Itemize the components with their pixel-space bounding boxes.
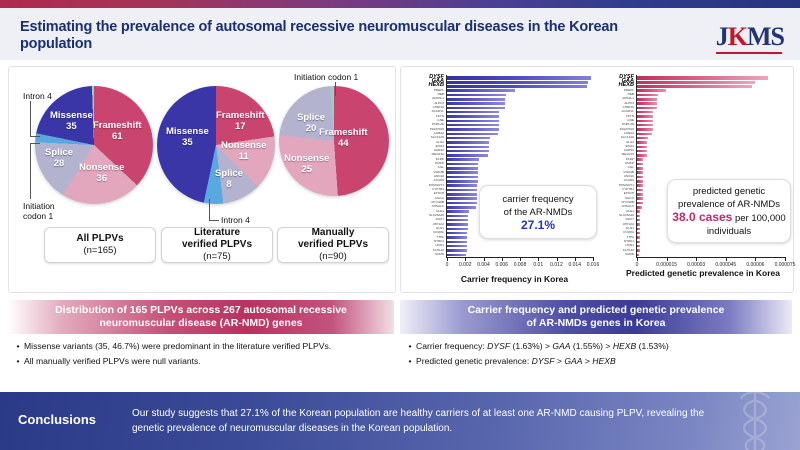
bar-acad9 bbox=[447, 180, 478, 183]
logo-ms: MS bbox=[747, 22, 784, 51]
x-tick bbox=[696, 258, 697, 261]
br2-b: > bbox=[582, 356, 592, 366]
bar-cyp7b1 bbox=[447, 189, 477, 192]
bar-acadvl bbox=[637, 111, 653, 114]
bullet-right-1: • Carrier frequency: DYSF (1.63%) > GAA … bbox=[404, 340, 794, 353]
bar-fkrp bbox=[637, 158, 643, 161]
pie3-label-nonsense: Nonsense 25 bbox=[284, 153, 329, 175]
bar-myo18b bbox=[637, 202, 643, 205]
bar-alg2 bbox=[637, 141, 647, 144]
x-tick bbox=[557, 258, 558, 261]
pie3-splice-value: 20 bbox=[306, 123, 317, 134]
br2-dysf: DYSF bbox=[532, 356, 555, 366]
pie1-init-line1: Initiation bbox=[23, 201, 55, 211]
bullet-left-1-text: Missense variants (35, 46.7%) were predo… bbox=[24, 340, 331, 353]
jkms-logo: JKMS bbox=[716, 22, 784, 52]
bar-alpk3 bbox=[447, 102, 505, 105]
pie1-leader-intron-v bbox=[30, 101, 31, 137]
predicted-prevalence-callout: predicted genetic prevalence of AR-NMDs … bbox=[667, 179, 791, 243]
bar-aars2 bbox=[447, 150, 489, 153]
br1-hexb: HEXB bbox=[613, 341, 636, 351]
catbox3-title-1: Manually bbox=[312, 227, 355, 239]
bar-vwa3b bbox=[447, 171, 478, 174]
bar-coq8a bbox=[637, 232, 640, 235]
bar-pmkp bbox=[637, 163, 643, 166]
bar-ttpa bbox=[447, 236, 467, 239]
carrier-callout-line2: of the AR-NMDs bbox=[504, 206, 573, 219]
bar-atp1a2 bbox=[637, 223, 640, 226]
bar-chrng bbox=[637, 107, 657, 110]
bar-gle1 bbox=[447, 210, 469, 213]
x-tick bbox=[520, 258, 521, 261]
prevalence-callout-value: 38.0 cases bbox=[672, 210, 732, 224]
bar-alpk3 bbox=[637, 102, 657, 105]
pie2-splice-value: 8 bbox=[226, 179, 231, 190]
bar-eno3 bbox=[637, 146, 647, 149]
br1-prefix: Carrier frequency: bbox=[416, 341, 487, 351]
bar-adssl1 bbox=[637, 98, 657, 101]
bar-slc12a6 bbox=[447, 137, 490, 140]
banner-carrier-prevalence: Carrier frequency and predicted genetic … bbox=[400, 300, 792, 334]
pie1-label-nonsense: Nonsense 36 bbox=[79, 162, 124, 184]
bullet-dot-icon: • bbox=[404, 340, 416, 353]
br1-a: (1.63%) > bbox=[510, 341, 552, 351]
pie3-frameshift-value: 44 bbox=[338, 138, 349, 149]
bar-fktn bbox=[447, 115, 499, 118]
pie-chart-all-plpvs bbox=[35, 86, 153, 204]
carrier-callout-line1: carrier frequency bbox=[502, 193, 573, 206]
bar-dysf bbox=[637, 76, 768, 80]
bar-chrng bbox=[447, 107, 505, 110]
catbox2-title-1: Literature bbox=[194, 227, 240, 239]
prevalence-callout-tail: per 100,000 bbox=[732, 213, 785, 224]
x-tick bbox=[538, 258, 539, 261]
banner-distribution: Distribution of 165 PLPVs across 267 aut… bbox=[8, 300, 394, 334]
pie2-label-splice: Splice 8 bbox=[215, 168, 243, 190]
pie1-nonsense-text: Nonsense bbox=[79, 162, 124, 173]
bar-dok7 bbox=[637, 219, 640, 222]
bar-hexb bbox=[447, 85, 587, 89]
x-tick bbox=[637, 258, 638, 261]
logo-k: K bbox=[728, 22, 747, 51]
prevalence-callout-line4: individuals bbox=[707, 225, 751, 238]
catbox3-title-2: verified PLPVs bbox=[298, 239, 368, 251]
conclusions-text: Our study suggests that 27.1% of the Kor… bbox=[132, 406, 732, 436]
bar-neb bbox=[447, 94, 506, 97]
pie1-label-frameshift: Frameshift 61 bbox=[93, 120, 142, 142]
bar-fktn bbox=[637, 115, 653, 118]
bullet-dot-icon: • bbox=[12, 340, 24, 353]
bar-plekhg5 bbox=[447, 128, 499, 131]
bar-sgcg bbox=[447, 197, 477, 200]
bar-klhl40 bbox=[637, 249, 640, 252]
bar-prepl bbox=[637, 89, 666, 92]
bar-gln1 bbox=[447, 228, 468, 231]
bar-gln1 bbox=[637, 228, 640, 231]
pie3-anno-init: Initiation codon 1 bbox=[294, 72, 358, 82]
bar-vwa3b bbox=[637, 171, 643, 174]
gene-label-slc12a6: SLC12A6 bbox=[407, 136, 444, 139]
pie1-init-line2: codon 1 bbox=[23, 211, 53, 221]
x-tick bbox=[755, 258, 756, 261]
bar-sord bbox=[637, 254, 639, 257]
bar-charts-panel: DYSFGAAHEXBPREPLNEBADSSL1ALPK3CHRNGACADV… bbox=[400, 66, 794, 293]
bar-gaa bbox=[447, 81, 588, 85]
banner-right-line1: Carrier frequency and predicted genetic … bbox=[468, 304, 725, 316]
catbox2-sub: (n=75) bbox=[203, 251, 231, 263]
pie2-label-nonsense: Nonsense 11 bbox=[221, 140, 266, 162]
bar-acadvl bbox=[447, 111, 499, 114]
bar-ntrk1 bbox=[637, 241, 640, 244]
conclusions-bar: Conclusions Our study suggests that 27.1… bbox=[0, 392, 800, 450]
bar-sgcg bbox=[637, 197, 643, 200]
br1-gaa: GAA bbox=[552, 341, 570, 351]
bar-agl bbox=[637, 167, 643, 170]
br2-prefix: Predicted genetic prevalence: bbox=[416, 356, 532, 366]
bar-dysf bbox=[447, 76, 591, 80]
bar-lama2 bbox=[447, 133, 498, 136]
br2-gaa: GAA bbox=[564, 356, 582, 366]
bullet-dot-icon: • bbox=[404, 355, 416, 368]
bar-pnpla8 bbox=[447, 124, 499, 127]
pie2-splice-text: Splice bbox=[215, 168, 243, 179]
pie2-anno-intron: Intron 4 bbox=[221, 215, 250, 225]
bar-megf10 bbox=[637, 154, 647, 157]
bar-klhl40 bbox=[447, 249, 467, 252]
bullets-right: • Carrier frequency: DYSF (1.63%) > GAA … bbox=[404, 340, 794, 370]
bar-dok7 bbox=[447, 219, 468, 222]
bullet-dot-icon: • bbox=[12, 355, 24, 368]
bar-slc25a20 bbox=[637, 215, 640, 218]
bar-gaa bbox=[637, 81, 755, 85]
x-tick bbox=[726, 258, 727, 261]
bar-neb bbox=[637, 94, 658, 97]
header-bar: Estimating the prevalence of autosomal r… bbox=[0, 8, 800, 60]
gene-label-slc12a6: SLC12A6 bbox=[597, 136, 634, 139]
bar-pomgnt1 bbox=[447, 184, 477, 187]
bar-pnpla8 bbox=[637, 124, 653, 127]
pie2-missense-value: 35 bbox=[182, 137, 193, 148]
carrier-frequency-callout: carrier frequency of the AR-NMDs 27.1% bbox=[479, 185, 597, 239]
category-box-manually-verified[interactable]: Manually verified PLPVs (n=90) bbox=[277, 227, 389, 263]
bar-ano10 bbox=[447, 176, 478, 179]
bar-sord bbox=[447, 254, 466, 257]
bar-gne bbox=[447, 120, 499, 123]
x-tick bbox=[502, 258, 503, 261]
gene-label-sord: SORD bbox=[407, 253, 444, 256]
caduceus-icon bbox=[724, 392, 786, 450]
br1-dysf: DYSF bbox=[487, 341, 510, 351]
bar-prepl bbox=[447, 89, 515, 92]
bar-alg2 bbox=[447, 141, 489, 144]
carrier-chart-x-title: Carrier frequency in Korea bbox=[427, 274, 602, 284]
pie1-anno-init: Initiation codon 1 bbox=[23, 201, 55, 221]
bar-ahsa1c bbox=[637, 206, 642, 209]
category-box-literature-verified[interactable]: Literature verified PLPVs (n=75) bbox=[161, 227, 273, 263]
bar-lpin1 bbox=[637, 245, 640, 248]
bar-myo18b bbox=[447, 202, 477, 205]
bar-pmkp bbox=[447, 163, 478, 166]
carrier-callout-value: 27.1% bbox=[521, 219, 555, 232]
pie2-leader-intron-v bbox=[209, 199, 210, 221]
pie1-missense-value: 35 bbox=[66, 121, 77, 132]
bar-slc12a6 bbox=[637, 137, 648, 140]
bar-cyp7b1 bbox=[637, 189, 643, 192]
pie1-missense-text: Missense bbox=[50, 110, 93, 121]
pie2-missense-text: Missense bbox=[166, 126, 209, 137]
conclusions-label: Conclusions bbox=[18, 412, 96, 427]
bullets-left: • Missense variants (35, 46.7%) were pre… bbox=[12, 340, 394, 370]
x-tick bbox=[465, 258, 466, 261]
bar-hexb bbox=[637, 85, 752, 89]
bullet-left-1: • Missense variants (35, 46.7%) were pre… bbox=[12, 340, 394, 353]
pie3-nonsense-text: Nonsense bbox=[284, 153, 329, 164]
pie1-leader-init-h bbox=[30, 143, 40, 144]
pie2-frameshift-text: Frameshift bbox=[216, 110, 265, 121]
gene-label-sord: SORD bbox=[597, 253, 634, 256]
bar-eno3 bbox=[447, 146, 489, 149]
page-title: Estimating the prevalence of autosomal r… bbox=[20, 19, 660, 53]
top-accent-strip bbox=[0, 0, 800, 8]
br2-hexb: HEXB bbox=[592, 356, 615, 366]
pie1-nonsense-value: 36 bbox=[96, 173, 107, 184]
x-tick bbox=[447, 258, 448, 261]
bar-etfdh bbox=[447, 193, 477, 196]
pie3-label-frameshift: Frameshift 44 bbox=[319, 127, 368, 149]
br1-b: (1.55%) > bbox=[571, 341, 613, 351]
bar-ano10 bbox=[637, 176, 643, 179]
pie2-frameshift-value: 17 bbox=[235, 121, 246, 132]
bar-ntrk1 bbox=[447, 241, 467, 244]
pie3-nonsense-value: 25 bbox=[301, 164, 312, 175]
br2-a: > bbox=[555, 356, 565, 366]
bar-plekhg5 bbox=[637, 128, 653, 131]
pie1-label-splice: Splice 28 bbox=[45, 147, 73, 169]
bullet-left-2-text: All manually verified PLPVs were null va… bbox=[24, 355, 201, 368]
carrier-frequency-chart: DYSFGAAHEXBPREPLNEBADSSL1ALPK3CHRNGACADV… bbox=[407, 71, 597, 289]
prevalence-chart-x-axis bbox=[636, 257, 786, 258]
banner-left-line2: neuromuscular disease (AR-NMD) genes bbox=[99, 317, 302, 329]
bullet-right-2-text: Predicted genetic prevalence: DYSF > GAA… bbox=[416, 355, 616, 368]
x-tick bbox=[575, 258, 576, 261]
bar-gle1 bbox=[637, 210, 640, 213]
pie1-leader-init-v bbox=[30, 143, 31, 199]
gene-label-lpin1: LPIN1 bbox=[407, 244, 444, 247]
bar-gne bbox=[637, 120, 653, 123]
catbox3-sub: (n=90) bbox=[319, 251, 347, 263]
prevalence-chart-x-title: Predicted genetic prevalence in Korea bbox=[619, 268, 787, 278]
bar-agl bbox=[447, 167, 478, 170]
bar-adssl1 bbox=[447, 98, 505, 101]
bar-fkrp bbox=[447, 158, 479, 161]
catbox1-title: All PLPVs bbox=[76, 233, 123, 245]
bullet-right-2: • Predicted genetic prevalence: DYSF > G… bbox=[404, 355, 794, 368]
pie1-anno-intron: Intron 4 bbox=[23, 91, 52, 101]
bar-megf10 bbox=[447, 154, 488, 157]
pie1-frameshift-text: Frameshift bbox=[93, 120, 142, 131]
x-tick bbox=[785, 258, 786, 261]
bar-slc25a20 bbox=[447, 215, 468, 218]
bar-etfdh bbox=[637, 193, 643, 196]
banner-right-line2: of AR-NMDs genes in Korea bbox=[526, 317, 665, 329]
bar-acad9 bbox=[637, 180, 643, 183]
bullet-left-2: • All manually verified PLPVs were null … bbox=[12, 355, 394, 368]
pie-panel: Frameshift 61 Nonsense 36 Splice 28 Miss… bbox=[8, 66, 396, 293]
bullet-right-1-text: Carrier frequency: DYSF (1.63%) > GAA (1… bbox=[416, 340, 669, 353]
br1-c: (1.53%) bbox=[636, 341, 668, 351]
x-tick bbox=[484, 258, 485, 261]
bar-atp1a2 bbox=[447, 223, 468, 226]
bar-lpin1 bbox=[447, 245, 467, 248]
catbox1-sub: (n=165) bbox=[83, 245, 116, 257]
catbox2-title-2: verified PLPVs bbox=[182, 239, 252, 251]
pie2-leader-intron-h bbox=[209, 220, 219, 221]
pie3-leader-init bbox=[335, 82, 336, 96]
pie3-splice-text: Splice bbox=[297, 112, 325, 123]
pie1-splice-text: Splice bbox=[45, 147, 73, 158]
prevalence-callout-line1: predicted genetic bbox=[693, 185, 765, 198]
bar-pomgnt1 bbox=[637, 184, 643, 187]
gene-label-lpin1: LPIN1 bbox=[597, 244, 634, 247]
x-tick bbox=[593, 258, 594, 261]
x-tick bbox=[667, 258, 668, 261]
prevalence-callout-line3: 38.0 cases per 100,000 bbox=[672, 211, 785, 225]
pie2-label-frameshift: Frameshift 17 bbox=[216, 110, 265, 132]
logo-j: J bbox=[716, 22, 728, 51]
bar-ahsa1c bbox=[447, 206, 476, 209]
pie2-nonsense-value: 11 bbox=[239, 151, 249, 162]
bar-aars2 bbox=[637, 150, 647, 153]
pie3-label-splice: Splice 20 bbox=[297, 112, 325, 134]
pie3-frameshift-text: Frameshift bbox=[319, 127, 368, 138]
pie1-frameshift-value: 61 bbox=[112, 131, 123, 142]
bar-lama2 bbox=[637, 133, 652, 136]
logo-underline bbox=[716, 52, 782, 54]
category-box-all-plpvs[interactable]: All PLPVs (n=165) bbox=[44, 227, 156, 263]
banner-left-line1: Distribution of 165 PLPVs across 267 aut… bbox=[55, 304, 347, 316]
pie2-label-missense: Missense 35 bbox=[166, 126, 209, 148]
bar-coq8a bbox=[447, 232, 467, 235]
pie1-leader-intron-h bbox=[30, 136, 40, 137]
pie1-splice-value: 28 bbox=[54, 158, 65, 169]
pie2-nonsense-text: Nonsense bbox=[221, 140, 266, 151]
bar-ttpa bbox=[637, 236, 640, 239]
pie1-label-missense: Missense 35 bbox=[50, 110, 93, 132]
